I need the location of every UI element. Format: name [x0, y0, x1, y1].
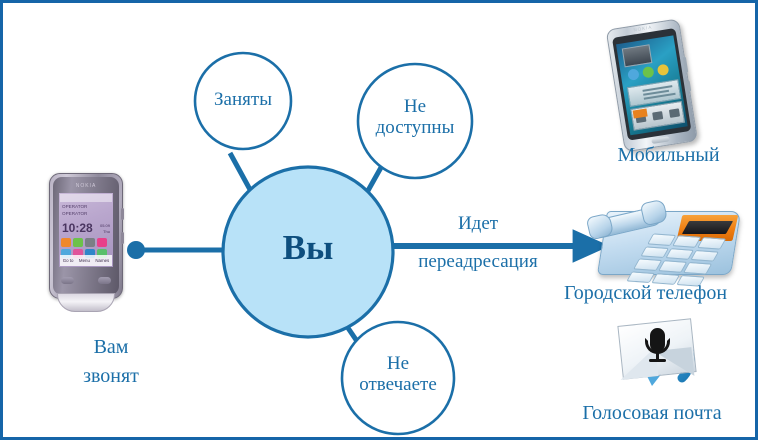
- nokia-side-button: [121, 232, 124, 244]
- nokia-phone-front: NOKIA OPERATOR OPERATOR 10:28 05.09 Thu: [53, 177, 119, 295]
- nokia-side-button: [121, 208, 124, 220]
- voicemail-label-text: Голосовая почта: [582, 402, 721, 424]
- nokia-softkey-bar: Go to Menu Names: [60, 255, 112, 266]
- smartphone-app-row: [627, 64, 669, 81]
- desk-phone-key[interactable]: [697, 237, 726, 249]
- smartphone-bezel: [612, 28, 691, 141]
- forwarding-arrow-label: Идет переадресация: [393, 213, 563, 273]
- bubble-no-answer-circle: [342, 322, 454, 434]
- caller-phone-label: Вам звонят: [21, 333, 201, 391]
- smartphone-app-icon: [627, 68, 640, 81]
- smartphone-side-button: [683, 57, 688, 73]
- nokia-operator-line1: OPERATOR: [62, 204, 87, 211]
- nokia-end-key: [98, 277, 111, 284]
- smartphone-screen: [616, 35, 688, 135]
- microphone-base: [649, 359, 666, 362]
- smartphone-play-button: [652, 111, 663, 120]
- nokia-operator-text: OPERATOR OPERATOR: [62, 204, 87, 218]
- nokia-date-text: 05.09 Thu: [100, 223, 110, 234]
- nokia-date-line2: Thu: [100, 229, 110, 235]
- nokia-app-icon: [97, 238, 107, 247]
- desk-phone-lcd: [682, 221, 733, 234]
- nokia-brand-text: NOKIA: [53, 183, 119, 189]
- smartphone-widget: [622, 44, 653, 67]
- nokia-phone-screen: OPERATOR OPERATOR 10:28 05.09 Thu: [59, 193, 113, 267]
- nokia-clock-text: 10:28: [62, 221, 93, 235]
- mobile-phone-label: Мобильный: [581, 143, 756, 167]
- mobile-label-text: Мобильный: [617, 144, 719, 166]
- nokia-phone-body: NOKIA OPERATOR OPERATOR 10:28 05.09 Thu: [49, 173, 123, 299]
- caller-label-line1: Вам: [21, 333, 201, 362]
- smartphone-app-icon: [657, 64, 670, 77]
- incoming-call-dot: [127, 241, 145, 259]
- caller-label-line2: звонят: [21, 362, 201, 391]
- forwarding-label-line2: переадресация: [393, 251, 563, 273]
- nokia-app-icon: [73, 238, 83, 247]
- landline-phone-label: Городской телефон: [533, 281, 758, 305]
- nokia-operator-line2: OPERATOR: [62, 211, 87, 218]
- voicemail-image: [606, 318, 706, 398]
- smartphone-next-button: [669, 108, 680, 117]
- nokia-date-line1: 05.09: [100, 223, 110, 229]
- nokia-phone-chin: [57, 293, 115, 312]
- diagram-canvas: Заняты Не доступны Не отвечаете Вы Идет …: [0, 0, 758, 440]
- voicemail-label: Голосовая почта: [548, 401, 756, 425]
- nokia-app-icon: [61, 238, 71, 247]
- smartphone-side-button: [687, 80, 692, 91]
- nokia-app-icon: [85, 238, 95, 247]
- microphone-capsule-icon: [650, 328, 665, 352]
- nokia-softkey-right: Names: [95, 258, 109, 263]
- nokia-nav-keys: [61, 273, 111, 287]
- caller-phone-image: NOKIA OPERATOR OPERATOR 10:28 05.09 Thu: [49, 173, 123, 313]
- nokia-call-key: [61, 277, 74, 284]
- smartphone-app-icon: [642, 66, 655, 79]
- center-circle: [223, 167, 393, 337]
- bubble-busy-circle: [195, 53, 291, 149]
- forwarding-label-line1: Идет: [393, 213, 563, 235]
- nokia-softkey-left: Go to: [63, 258, 74, 263]
- landline-phone-image: [588, 195, 740, 279]
- voicemail-envelope-icon: [620, 322, 692, 376]
- desk-phone-handset: [588, 195, 662, 247]
- nokia-status-bar: [60, 194, 112, 202]
- desk-phone-key[interactable]: [683, 262, 712, 274]
- desk-phone-key[interactable]: [690, 249, 719, 261]
- bubble-unavailable-circle: [358, 64, 472, 178]
- nokia-softkey-mid: Menu: [79, 258, 90, 263]
- landline-label-text: Городской телефон: [564, 282, 727, 304]
